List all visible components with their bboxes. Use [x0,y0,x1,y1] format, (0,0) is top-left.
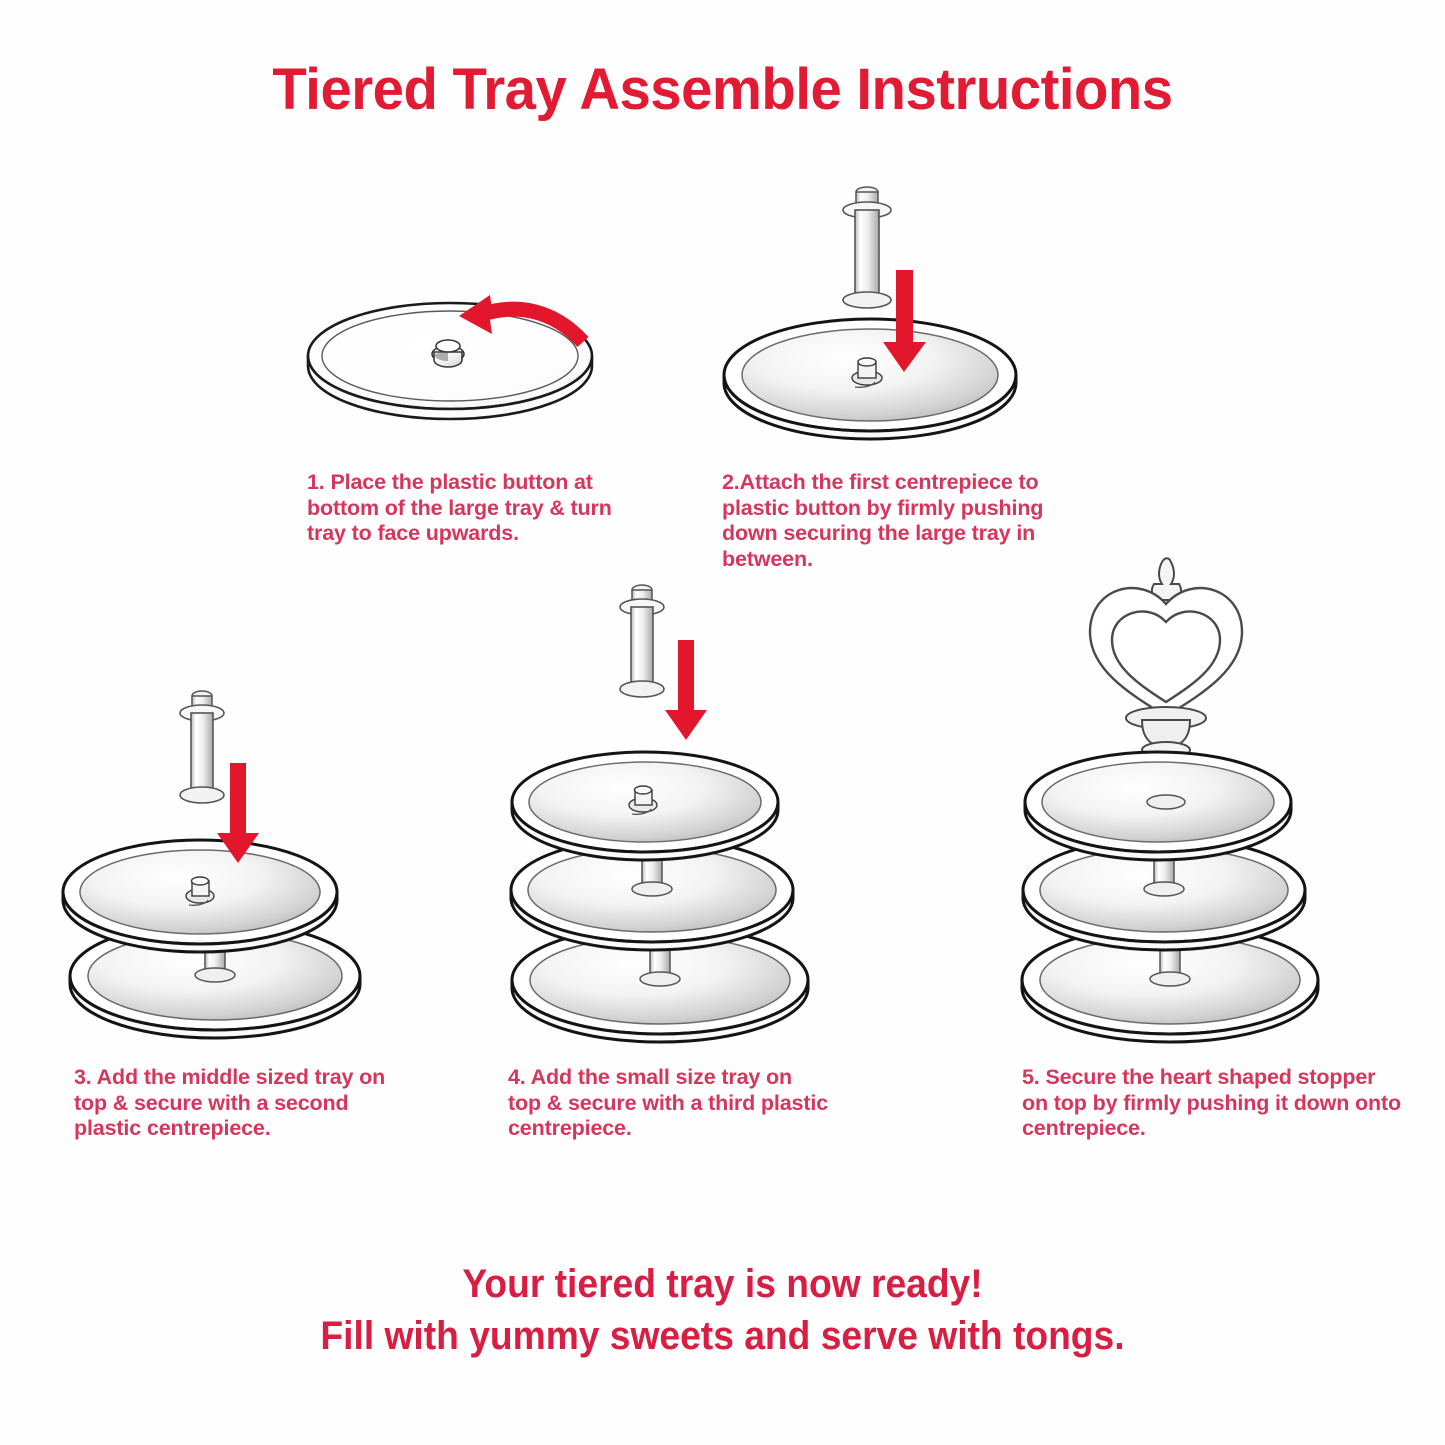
step-1-caption: 1. Place the plastic button at bottom of… [307,470,637,547]
down-arrow-icon [665,640,707,740]
step-2-illustration [715,170,1025,440]
step-1-illustration [300,290,630,440]
centrepiece-rod [843,187,891,308]
step-5-caption: 5. Secure the heart shaped stopper on to… [1022,1065,1402,1142]
step-5-illustration [990,540,1380,1050]
step-4-illustration [490,570,840,1050]
step-4-caption: 4. Add the small size tray on top & secu… [508,1065,828,1142]
page-title: Tiered Tray Assemble Instructions [22,56,1424,123]
centrepiece-rod [620,585,664,697]
step-3-illustration [50,670,380,1050]
footer-message: Your tiered tray is now ready! Fill with… [51,1258,1395,1362]
plastic-button [432,340,464,367]
instruction-sheet: Tiered Tray Assemble Instructions [0,0,1445,1445]
step-2-caption: 2.Attach the first centrepiece to plasti… [722,470,1072,572]
step-3-caption: 3. Add the middle sized tray on top & se… [74,1065,404,1142]
small-tray [1025,752,1291,860]
centrepiece-rod [180,691,224,803]
